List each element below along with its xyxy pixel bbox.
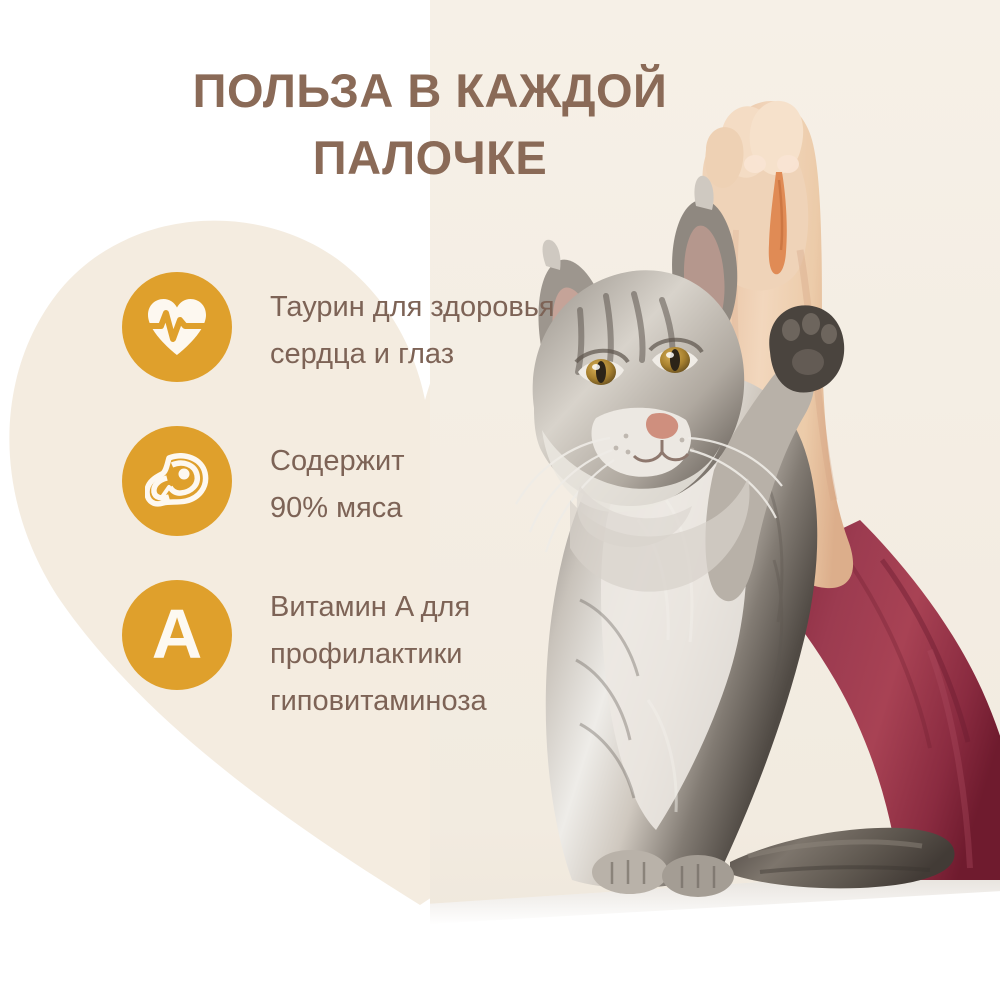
vitamin-a-icon: A xyxy=(152,599,203,669)
benefit-line-1: Содержит xyxy=(270,438,405,485)
benefit-item-vitamin-a: A Витамин A для профилактики гиповитамин… xyxy=(122,580,592,725)
benefits-list: Таурин для здоровья сердца и глаз xyxy=(122,272,592,725)
page-title: ПОЛЬЗА В КАЖДОЙ ПАЛОЧКЕ xyxy=(150,58,710,191)
benefit-line-3: гиповитаминоза xyxy=(270,678,487,725)
meat-steak-icon xyxy=(145,453,209,509)
benefit-line-2: 90% мяса xyxy=(270,485,405,532)
benefit-line-2: профилактики xyxy=(270,631,487,678)
title-line-1: ПОЛЬЗА В КАЖДОЙ xyxy=(193,64,668,117)
benefit-item-taurine: Таурин для здоровья сердца и глаз xyxy=(122,272,592,382)
promo-banner: ПОЛЬЗА В КАЖДОЙ ПАЛОЧКЕ Таурин для здоро… xyxy=(0,0,1000,999)
heart-pulse-icon xyxy=(146,298,208,356)
benefit-badge-vitamin-a: A xyxy=(122,580,232,690)
benefit-text-vitamin-a: Витамин A для профилактики гиповитаминоз… xyxy=(270,580,487,725)
benefit-line-2: сердца и глаз xyxy=(270,331,555,378)
benefit-item-meat: Содержит 90% мяса xyxy=(122,426,592,536)
benefit-line-1: Витамин A для xyxy=(270,584,487,631)
title-line-2: ПАЛОЧКЕ xyxy=(150,125,710,192)
benefit-line-1: Таурин для здоровья xyxy=(270,284,555,331)
benefit-badge-taurine xyxy=(122,272,232,382)
benefit-badge-meat xyxy=(122,426,232,536)
benefit-text-meat: Содержит 90% мяса xyxy=(270,426,405,532)
benefit-text-taurine: Таурин для здоровья сердца и глаз xyxy=(270,272,555,378)
